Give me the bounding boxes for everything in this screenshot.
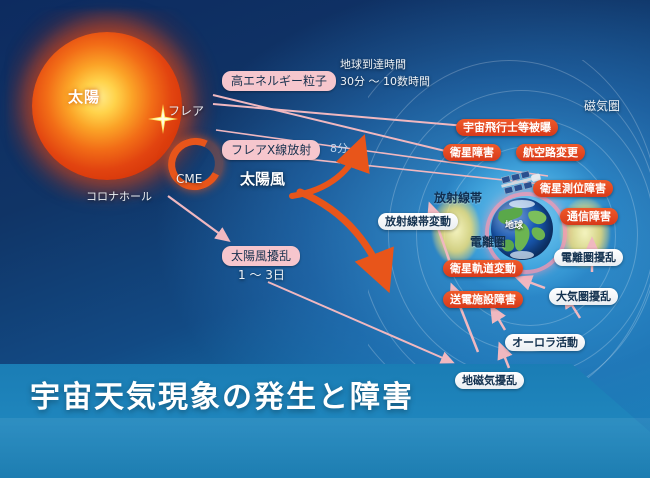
phenomenon-auroral-activity: オーロラ活動 <box>505 334 585 351</box>
sun-label: 太陽 <box>68 86 100 107</box>
solar-wind-label: 太陽風 <box>240 172 285 187</box>
space-weather-diagram: 太陽 フレア CME コロナホール <box>0 0 650 478</box>
label-solar-wind-disturbance: 太陽風擾乱 <box>222 246 300 266</box>
phenomenon-geomagnetic-storm: 地磁気擾乱 <box>455 372 524 389</box>
xray-travel-time: 8分 <box>330 143 348 154</box>
impact-satellite-failure: 衛星障害 <box>443 144 501 161</box>
arrival-time-range: 30分 ～ 10数時間 <box>340 76 430 87</box>
phenomenon-ionospheric-disturbance: 電離圏擾乱 <box>554 249 623 266</box>
impact-power-grid-failure: 送電施設障害 <box>443 291 523 308</box>
radiation-belt-label: 放射線帯 <box>434 192 482 204</box>
sun-graphic: 太陽 フレア CME コロナホール <box>8 10 218 200</box>
earth-label: 地球 <box>505 218 523 231</box>
label-high-energy-particles: 高エネルギー粒子 <box>222 71 336 91</box>
page-title: 宇宙天気現象の発生と障害 <box>30 372 414 416</box>
cme-label: CME <box>176 172 202 186</box>
impact-communication-failure: 通信障害 <box>560 208 618 225</box>
impact-astronaut-exposure: 宇宙飛行士等被曝 <box>456 119 558 136</box>
phenomenon-radiation-belt-variation: 放射線帯変動 <box>378 213 458 230</box>
coronal-hole-label: コロナホール <box>86 188 152 204</box>
bottom-band-highlight <box>0 418 650 478</box>
arrival-time-title: 地球到達時間 <box>340 59 406 70</box>
impact-flight-route-change: 航空路変更 <box>516 144 585 161</box>
impact-satellite-positioning: 衛星測位障害 <box>533 180 613 197</box>
label-flare-xray: フレアX線放射 <box>222 140 320 160</box>
radiation-belt-left <box>432 196 480 264</box>
phenomenon-atmospheric-disturbance: 大気圏擾乱 <box>549 288 618 305</box>
magnetosphere-label: 磁気圏 <box>584 100 620 112</box>
ionosphere-label: 電離圏 <box>470 236 506 248</box>
impact-satellite-orbit-change: 衛星軌道変動 <box>443 260 523 277</box>
flare-label: フレア <box>168 102 204 119</box>
solar-wind-travel-time: 1 ～ 3日 <box>238 269 285 281</box>
